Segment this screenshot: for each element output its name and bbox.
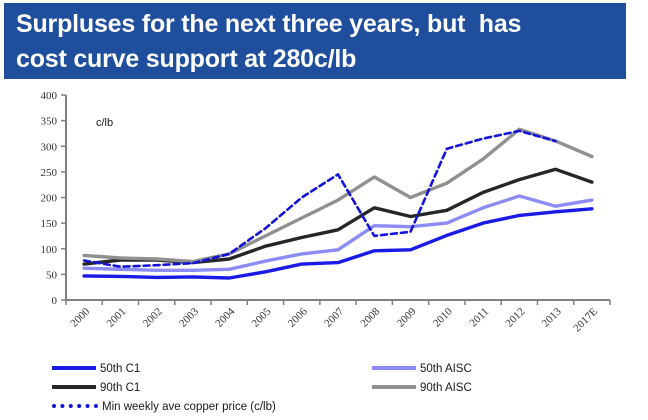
- legend-swatch: [52, 404, 98, 408]
- y-axis-tick-label: 300: [41, 141, 58, 153]
- legend-swatch: [52, 385, 96, 389]
- legend-label: 50th C1: [100, 363, 140, 375]
- legend-item[interactable]: Min weekly ave copper price (c/lb): [52, 399, 276, 415]
- x-axis-tick-label: 2005: [250, 305, 274, 329]
- legend-label: Min weekly ave copper price (c/lb): [102, 401, 276, 413]
- legend-swatch: [52, 366, 96, 370]
- series-lines: [84, 129, 592, 278]
- y-axis-labels: 050100150200250300350400: [41, 90, 58, 307]
- x-axis-tick-label: 2007: [322, 305, 346, 329]
- axis-unit-label: c/lb: [96, 117, 113, 129]
- y-axis-tick-label: 150: [41, 218, 58, 230]
- chart-legend: 50th C190th C1Min weekly ave copper pric…: [0, 358, 648, 420]
- legend-item[interactable]: 50th C1: [52, 361, 140, 377]
- x-axis-tick-label: 2010: [431, 305, 455, 329]
- legend-item[interactable]: 90th C1: [52, 380, 140, 396]
- x-axis-tick-label: 2011: [467, 306, 491, 330]
- legend-swatch: [372, 366, 416, 370]
- legend-label: 90th AISC: [420, 382, 472, 394]
- page-title: Surpluses for the next three years, but …: [16, 7, 616, 77]
- slide-title-banner: Surpluses for the next three years, but …: [4, 3, 626, 79]
- x-axis-tick-label: 2006: [286, 305, 310, 329]
- x-axis-tick-label: 2012: [503, 306, 527, 330]
- y-axis-tick-label: 350: [41, 116, 58, 128]
- y-axis-tick-label: 50: [46, 269, 58, 281]
- series-line: [84, 131, 555, 267]
- legend-label: 50th AISC: [420, 363, 472, 375]
- legend-item[interactable]: 50th AISC: [372, 361, 472, 377]
- series-line: [84, 209, 592, 278]
- y-axis-tick-label: 400: [41, 90, 58, 102]
- y-axis-tick-label: 100: [41, 244, 58, 256]
- x-axis-tick-label: 2009: [395, 305, 419, 329]
- y-axis-tick-label: 250: [41, 167, 58, 179]
- x-axis-tick-label: 2000: [68, 305, 92, 329]
- x-axis-tick-label: 2017E: [571, 305, 600, 334]
- x-axis-tick-label: 2001: [104, 306, 128, 330]
- x-axis-tick-label: 2004: [213, 305, 237, 329]
- x-axis-tick-label: 2008: [358, 305, 382, 329]
- legend-swatch: [372, 385, 416, 389]
- y-axis-tick-label: 200: [41, 193, 58, 205]
- x-axis-tick-label: 2003: [177, 305, 201, 329]
- x-axis-tick-label: 2013: [540, 305, 564, 329]
- y-axis-tick-label: 0: [52, 295, 58, 307]
- x-axis-labels: 2000200120022003200420052006200720082009…: [68, 305, 600, 334]
- legend-item[interactable]: 90th AISC: [372, 380, 472, 396]
- x-axis-tick-label: 2002: [141, 306, 165, 330]
- legend-label: 90th C1: [100, 382, 140, 394]
